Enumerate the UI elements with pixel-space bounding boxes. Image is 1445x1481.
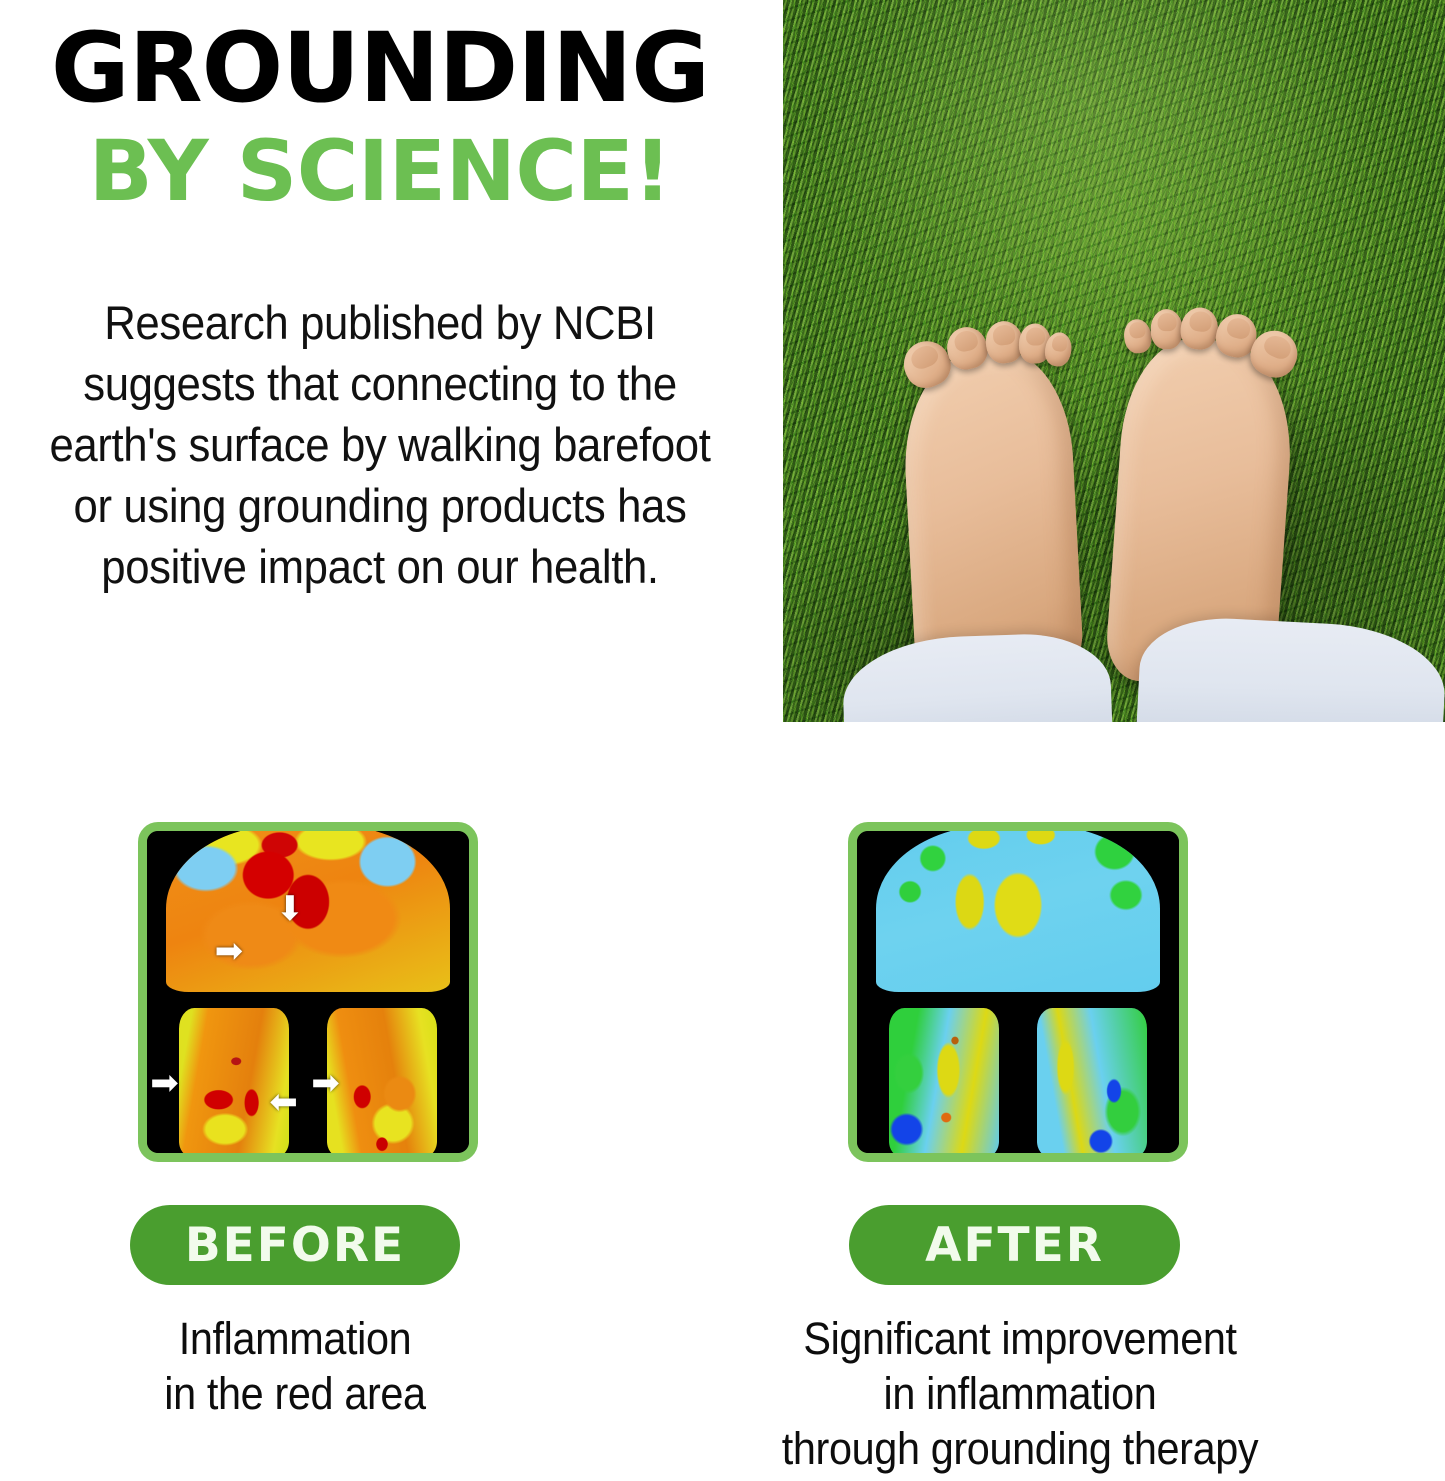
- thermal-scan-before: ⬇ ➡ ➡ ⬅ ➡: [138, 822, 478, 1162]
- badge-before-label: BEFORE: [185, 1218, 405, 1273]
- page-subtitle: BY SCIENCE!: [0, 122, 760, 221]
- caption-after: Significant improvement in inflammation …: [707, 1312, 1333, 1477]
- thermal-divider-after: [857, 992, 1179, 1002]
- caption-before-line2: in the red area: [79, 1367, 511, 1422]
- arrow-down-icon: ⬇: [276, 892, 305, 926]
- status-badge-after: AFTER: [849, 1205, 1180, 1285]
- thermal-leg-right-after: [1037, 1008, 1146, 1153]
- caption-after-line1: Significant improvement: [707, 1312, 1333, 1367]
- caption-after-line2: in inflammation: [707, 1367, 1333, 1422]
- arrow-right-icon-lower-right: ➡: [311, 1066, 340, 1100]
- caption-before-line1: Inflammation: [79, 1312, 511, 1367]
- caption-after-line3: through grounding therapy: [707, 1422, 1333, 1477]
- thermal-image-before: ⬇ ➡ ➡ ⬅ ➡: [147, 831, 469, 1153]
- arrow-right-icon-upper: ➡: [215, 934, 244, 968]
- thermal-image-after: [857, 831, 1179, 1153]
- thermal-scan-after: [848, 822, 1188, 1162]
- headline-block: GROUNDING BY SCIENCE!: [0, 18, 760, 221]
- barefoot-on-grass-photo: [783, 0, 1445, 722]
- arrow-left-icon-lower: ⬅: [269, 1085, 298, 1119]
- thermal-heatmap-torso-after: [876, 831, 1159, 992]
- thermal-leg-right-before: [327, 1008, 436, 1153]
- page-title: GROUNDING: [0, 18, 760, 120]
- poster-root: GROUNDING BY SCIENCE! Research published…: [0, 0, 1445, 1481]
- thermal-leg-left-before: [179, 1008, 288, 1153]
- status-badge-before: BEFORE: [130, 1205, 460, 1285]
- badge-after-label: AFTER: [925, 1218, 1104, 1273]
- thermal-torso-after: [876, 831, 1159, 992]
- thermal-divider-before: [147, 992, 469, 1002]
- thermal-leg-left-after: [889, 1008, 998, 1153]
- thermal-torso-before: [166, 831, 449, 992]
- intro-paragraph: Research published by NCBI suggests that…: [34, 292, 726, 597]
- arrow-right-icon-lower-left: ➡: [150, 1066, 179, 1100]
- toe-4-right: [1150, 309, 1183, 350]
- thermal-heatmap-torso-before: [166, 831, 449, 992]
- caption-before: Inflammation in the red area: [79, 1312, 511, 1422]
